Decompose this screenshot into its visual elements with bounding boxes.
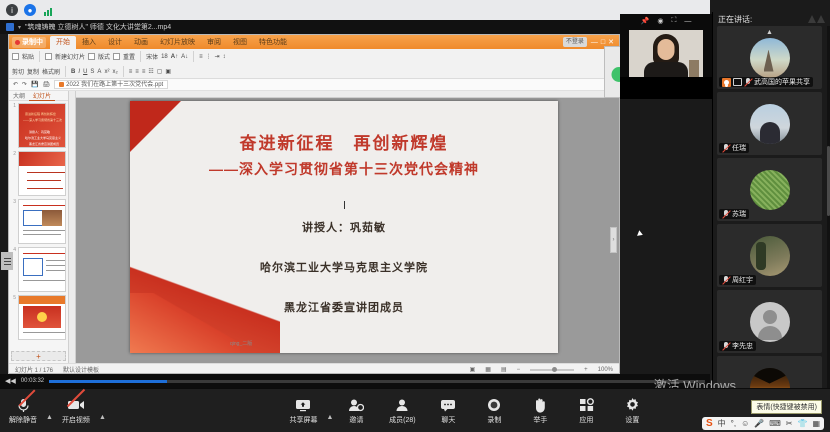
video-progress-fill — [49, 380, 167, 383]
maximize-button[interactable]: □ — [601, 39, 605, 46]
thumbnail-item[interactable]: 4 — [11, 247, 66, 292]
ime-toolbar[interactable]: S 中 °, ☺ 🎤 ⌨ ✂ 👕 ▦ — [702, 417, 824, 430]
vertical-ruler — [69, 91, 76, 363]
thumbnail-number: 1 — [11, 103, 16, 148]
tab-insert[interactable]: 插入 — [76, 36, 102, 49]
ribbon-copy-label[interactable]: 复制 — [27, 67, 39, 76]
numbering-icon[interactable]: ⋮ — [206, 53, 212, 60]
emoji-tooltip: 表情(快捷键被禁用) — [751, 400, 822, 414]
window-controls: — □ ✕ — [591, 38, 616, 46]
participant-label: 周红宇 — [719, 275, 756, 285]
video-current-time: 00:03:32 — [21, 378, 44, 384]
collapse-pane-button[interactable]: › — [610, 227, 617, 253]
align-left-icon[interactable]: ≡ — [129, 69, 133, 75]
thumbnail-item[interactable]: 2 — [11, 151, 66, 196]
paste-icon[interactable] — [12, 53, 19, 60]
thumbnail-item[interactable]: 3 — [11, 199, 66, 244]
meeting-screen-share-window: i ● ▾ "筑魂铸魄 立德树人" 师德 文化大讲堂第2...mp4 录制中 开… — [0, 0, 830, 432]
thumbnail-number: 2 — [11, 151, 16, 196]
shape-fill-icon[interactable]: ▢ — [157, 68, 163, 75]
font-name-box[interactable]: 宋体 — [146, 52, 158, 61]
participant-name: 任瑞 — [732, 143, 746, 153]
minimize-button[interactable]: — — [591, 39, 598, 46]
share-options-chevron-icon[interactable]: ▲ — [326, 414, 333, 421]
meeting-toolbar: 解除静音 ▲ 开启视频 ▲ 共享屏幕 ▲ — [0, 388, 830, 432]
mic-muted-icon — [722, 276, 730, 285]
participant-name: 李先忠 — [732, 341, 753, 351]
slide-title: 奋进新征程 再创新辉煌 — [130, 129, 558, 154]
participant-label: 武高国的苹果共享 — [719, 77, 813, 87]
slide-subtitle: ——深入学习贯彻省第十三次党代会精神 — [130, 159, 558, 179]
underline-icon[interactable]: U — [83, 69, 87, 75]
shield-icon[interactable]: ● — [24, 4, 36, 16]
speaker-face — [658, 39, 675, 60]
columns-icon[interactable]: ☷ — [148, 68, 153, 75]
slide-thumbnail-pane: 大纲 幻灯片 1 奋进新征程 再创新辉煌 ——深入学习贯彻省第十三次 讲授人：巩… — [9, 91, 69, 363]
thumbnail-list[interactable]: 1 奋进新征程 再创新辉煌 ——深入学习贯彻省第十三次 讲授人：巩茹敏 哈尔滨工… — [9, 101, 68, 349]
chrome-right-dark-corner — [710, 0, 830, 12]
section-icon[interactable] — [113, 53, 120, 60]
tab-design[interactable]: 设计 — [102, 36, 128, 49]
participant-tile[interactable]: 苏瑞 — [717, 158, 822, 221]
participant-label: 李先忠 — [719, 341, 756, 351]
toolbar-share-screen-button[interactable]: 共享屏幕 — [280, 397, 326, 425]
browser-chrome-bar: i ● — [0, 0, 710, 20]
ribbon-row-top: 粘贴 新建幻灯片 版式 重置 宋体 18 A↑ A↓ ≡ ⋮ ⇥ ↕ — [9, 49, 619, 64]
media-file-icon — [6, 23, 14, 31]
raise-hand-icon — [533, 397, 547, 413]
text-cursor — [344, 201, 345, 209]
participant-list[interactable]: ▲ 武高国的苹果共享 任瑞 — [713, 26, 826, 408]
fullscreen-icon[interactable]: ⛶ — [671, 17, 676, 25]
ribbon-divider-2 — [140, 51, 141, 62]
toolbar-unmute-button[interactable]: 解除静音 — [0, 397, 46, 425]
ime-keyboard-icon[interactable]: ⌨ — [769, 419, 781, 428]
thumbnail-tabs: 大纲 幻灯片 — [9, 91, 68, 101]
avatar — [750, 38, 790, 78]
participants-icon — [394, 397, 410, 413]
participant-tile[interactable]: 李先忠 — [717, 290, 822, 353]
pin-icon[interactable]: 📌 — [641, 17, 650, 25]
avatar — [750, 104, 790, 144]
invite-label: 邀请 — [349, 415, 363, 425]
indent-icon[interactable]: ⇥ — [215, 53, 220, 60]
ribbon-divider-5 — [123, 66, 124, 77]
quick-save-icon[interactable]: 💾 — [31, 81, 38, 88]
thumbnail-item[interactable]: 5 — [11, 295, 66, 340]
thumbnail-preview[interactable]: 奋进新征程 再创新辉煌 ——深入学习贯彻省第十三次 讲授人：巩茹敏 哈尔滨工业大… — [18, 103, 66, 148]
ribbon-divider-4 — [65, 66, 66, 77]
screen-share-icon — [733, 78, 742, 86]
tab-slideshow[interactable]: 幻灯片放映 — [154, 36, 201, 49]
apps-icon — [579, 397, 594, 413]
sidebar-header: 正在讲话: — [713, 12, 830, 26]
avatar — [750, 302, 790, 342]
settings-label: 设置 — [625, 415, 639, 425]
cloud-login-button[interactable]: 不登录 — [563, 37, 587, 47]
thumb-bg — [19, 104, 65, 147]
ribbon-formatpainter-label[interactable]: 格式刷 — [42, 67, 60, 76]
thumb-text-5: 黑龙江省委宣讲团成员 — [29, 142, 59, 146]
ribbon-cut-label[interactable]: 剪切 — [12, 67, 24, 76]
ime-mode-chinese[interactable]: 中 — [718, 418, 726, 429]
close-button[interactable]: ✕ — [608, 38, 614, 46]
current-slide[interactable]: 奋进新征程 再创新辉煌 ——深入学习贯彻省第十三次党代会精神 讲授人：巩茹敏 哈… — [130, 101, 558, 353]
tab-slides[interactable]: 幻灯片 — [29, 91, 55, 101]
status-slide-index: 幻灯片 1 / 176 — [15, 365, 53, 374]
thumb-text-3: 讲授人：巩茹敏 — [29, 130, 50, 134]
slide-editing-area[interactable]: 奋进新征程 再创新辉煌 ——深入学习贯彻省第十三次党代会精神 讲授人：巩茹敏 哈… — [69, 91, 619, 363]
recording-label: 录制中 — [22, 37, 43, 47]
tab-start[interactable]: 开始 — [50, 36, 76, 49]
font-size-box[interactable]: 18 — [161, 54, 168, 60]
superscript-icon[interactable]: x² — [104, 69, 109, 75]
view-normal-icon[interactable]: ▣ — [470, 366, 476, 373]
avatar — [750, 236, 790, 276]
thumb-text-2: ——深入学习贯彻省第十三次 — [23, 118, 62, 122]
grow-font-icon[interactable]: A↑ — [171, 54, 178, 60]
thumbnail-number: 3 — [11, 199, 16, 244]
ribbon-tabs: 开始 插入 设计 动画 幻灯片放映 审阅 视图 特色功能 — [50, 35, 559, 49]
share-screen-icon — [295, 397, 311, 413]
zoom-slider[interactable] — [530, 369, 574, 371]
align-center-icon[interactable]: ≡ — [135, 69, 139, 75]
apps-label: 应用 — [579, 415, 593, 425]
add-slide-button[interactable]: + — [11, 351, 66, 361]
recording-badge: 录制中 — [12, 37, 46, 48]
thumb-text-4: 哈尔滨工业大学马克思主义 — [25, 136, 61, 140]
minimize-icon[interactable]: — — [684, 18, 691, 25]
ribbon-layout-label[interactable]: 版式 — [98, 52, 110, 61]
zoom-level-label: 100% — [598, 367, 613, 373]
toolbar-participants-button[interactable]: 成员(28) — [379, 397, 425, 425]
ribbon-row-bottom: 剪切 复制 格式刷 B I U S A x² x₂ ≡ ≡ ≡ ☷ ▢ ▣ — [9, 64, 619, 79]
subscript-icon[interactable]: x₂ — [112, 69, 117, 75]
ppt-workspace: 大纲 幻灯片 1 奋进新征程 再创新辉煌 ——深入学习贯彻省第十三次 讲授人：巩… — [9, 91, 619, 363]
tab-outline[interactable]: 大纲 — [9, 91, 29, 100]
toolbar-chat-button[interactable]: 聊天 — [425, 397, 471, 425]
media-file-title: "筑魂铸魄 立德树人" 师德 文化大讲堂第2...mp4 — [25, 22, 171, 32]
slide-line-presenter: 讲授人：巩茹敏 — [130, 219, 558, 235]
mic-muted-icon — [722, 210, 730, 219]
toolbar-apps-button[interactable]: 应用 — [563, 397, 609, 425]
ppt-titlebar: 录制中 开始 插入 设计 动画 幻灯片放映 审阅 视图 特色功能 不登录 — □… — [9, 35, 619, 49]
participant-name: 苏瑞 — [732, 209, 746, 219]
record-icon — [487, 397, 501, 413]
text-color-icon[interactable]: A — [97, 69, 101, 75]
toolbar-invite-button[interactable]: 邀请 — [333, 397, 379, 425]
thumb-text: 奋进新征程 再创新辉煌 — [25, 112, 56, 116]
mic-off-icon — [17, 397, 30, 413]
participant-tile[interactable]: 任瑞 — [717, 92, 822, 155]
slide-line-group: 黑龙江省委宣讲团成员 — [130, 299, 558, 315]
video-options-chevron-icon[interactable]: ▲ — [99, 414, 106, 421]
chat-label: 聊天 — [441, 415, 455, 425]
ribbon-reset-label[interactable]: 重置 — [123, 52, 135, 61]
app-logo-icon — [808, 15, 825, 23]
slide-footer-note: qing_二版 — [230, 340, 252, 347]
status-template-name: 默认设计模板 — [63, 365, 99, 374]
thumbnail-item[interactable]: 1 奋进新征程 再创新辉煌 ——深入学习贯彻省第十三次 讲授人：巩茹敏 哈尔滨工… — [11, 103, 66, 148]
arrange-icon[interactable]: ▣ — [165, 68, 171, 75]
shrink-font-icon[interactable]: A↓ — [181, 54, 188, 60]
participant-name: 武高国的苹果共享 — [754, 77, 810, 87]
thumbnail-preview[interactable] — [18, 295, 66, 340]
tab-view[interactable]: 视图 — [227, 36, 253, 49]
thumbnail-preview[interactable] — [18, 199, 66, 244]
record-dot-icon — [15, 40, 20, 45]
rewind-icon[interactable]: ◀◀ — [5, 377, 16, 385]
zoom-slider-knob[interactable] — [552, 367, 557, 372]
mic-muted-icon — [722, 342, 730, 351]
thumbnail-preview[interactable] — [18, 247, 66, 292]
ribbon-toolbar: 粘贴 新建幻灯片 版式 重置 宋体 18 A↑ A↓ ≡ ⋮ ⇥ ↕ 剪 — [9, 49, 619, 79]
view-sorter-icon[interactable]: ▦ — [485, 366, 491, 373]
tab-animation[interactable]: 动画 — [128, 36, 154, 49]
info-icon[interactable]: i — [6, 4, 18, 16]
record-label: 录制 — [487, 415, 501, 425]
participant-name: 周红宇 — [732, 275, 753, 285]
new-slide-icon[interactable] — [45, 53, 52, 60]
toolbar-record-button[interactable]: 录制 — [471, 397, 517, 425]
chat-icon — [440, 397, 456, 413]
quick-redo-icon[interactable]: ↷ — [22, 81, 27, 88]
chevron-down-icon[interactable]: ▾ — [18, 24, 21, 31]
ime-toolbox-icon[interactable]: ▦ — [812, 419, 820, 428]
mic-muted-icon — [744, 78, 752, 87]
strikethrough-icon[interactable]: S — [90, 69, 94, 75]
tab-review[interactable]: 审阅 — [201, 36, 227, 49]
participant-tile[interactable]: 周红宇 — [717, 224, 822, 287]
signal-bars-icon[interactable] — [42, 4, 54, 16]
participant-sidebar: 正在讲话: ▲ 武高国的苹果共享 任瑞 — [712, 12, 830, 408]
quick-print-icon[interactable]: 🖨 — [43, 81, 51, 88]
zoom-in-button[interactable]: + — [584, 367, 588, 373]
host-badge-icon — [722, 78, 731, 87]
bold-icon[interactable]: B — [71, 69, 75, 75]
ppt-status-bar: 幻灯片 1 / 176 默认设计模板 ▣ ▦ ▤ − + 100% — [9, 363, 619, 374]
participant-tile[interactable]: ▲ 武高国的苹果共享 — [717, 26, 822, 89]
tab-features[interactable]: 特色功能 — [253, 36, 293, 49]
thumbnail-number: 5 — [11, 295, 16, 340]
raise-hand-label: 举手 — [533, 415, 547, 425]
participants-label: 成员(28) — [389, 415, 415, 425]
video-tile-footer — [620, 77, 712, 99]
hidden-toolbar-handle[interactable] — [1, 252, 13, 270]
quick-undo-icon[interactable]: ↶ — [13, 81, 18, 88]
thumbnail-preview[interactable] — [18, 151, 66, 196]
video-progress-track[interactable] — [49, 380, 705, 383]
layout-icon[interactable] — [88, 53, 95, 60]
ime-punctuation-icon[interactable]: °, — [731, 419, 736, 428]
share-screen-label: 共享屏幕 — [289, 415, 317, 425]
video-off-icon — [67, 397, 85, 413]
ime-emoji-icon[interactable]: ☺ — [741, 419, 749, 428]
participant-label: 苏瑞 — [719, 209, 749, 219]
chevron-up-icon[interactable]: ▲ — [766, 29, 773, 36]
mic-muted-icon — [722, 144, 730, 153]
wps-presentation-window: 录制中 开始 插入 设计 动画 幻灯片放映 审阅 视图 特色功能 不登录 — □… — [8, 34, 620, 374]
open-file-name: 2022 我们在路上第十三次党代会.ppt — [66, 81, 163, 89]
toolbar-raise-hand-button[interactable]: 举手 — [517, 397, 563, 425]
start-video-label: 开启视频 — [62, 415, 90, 425]
line-spacing-icon[interactable]: ↕ — [223, 54, 226, 60]
participant-label: 任瑞 — [719, 143, 749, 153]
speaker-video-tile[interactable]: 📌 ◉ ⛶ — — [620, 14, 712, 99]
zoom-out-button[interactable]: − — [517, 367, 521, 373]
ppt-file-icon — [59, 82, 64, 87]
thumb-banner — [19, 152, 65, 166]
ribbon-new-slide-label[interactable]: 新建幻灯片 — [55, 52, 85, 61]
ribbon-divider — [39, 51, 40, 62]
avatar — [750, 170, 790, 210]
file-tab-bar: ↶ ↷ 💾 🖨 2022 我们在路上第十三次党代会.ppt — [9, 79, 619, 91]
video-tile-controls: 📌 ◉ ⛶ — — [620, 16, 712, 26]
slide-line-institution: 哈尔滨工业大学马克思主义学院 — [130, 259, 558, 275]
align-right-icon[interactable]: ≡ — [142, 69, 146, 75]
view-reading-icon[interactable]: ▤ — [501, 366, 507, 373]
mouse-cursor — [637, 230, 644, 237]
horizontal-ruler — [69, 91, 619, 98]
bullets-icon[interactable]: ≡ — [199, 54, 203, 60]
settings-gear-icon — [625, 397, 640, 413]
ime-clipboard-icon[interactable]: ✂ — [786, 419, 793, 428]
toolbar-settings-button[interactable]: 设置 — [609, 397, 655, 425]
speaking-label: 正在讲话: — [718, 14, 752, 25]
italic-icon[interactable]: I — [78, 69, 80, 75]
sogou-logo-icon[interactable]: S — [706, 418, 713, 429]
audio-options-chevron-icon[interactable]: ▲ — [46, 414, 53, 421]
unmute-label: 解除静音 — [9, 415, 37, 425]
ribbon-paste-label[interactable]: 粘贴 — [22, 52, 34, 61]
spotlight-icon[interactable]: ◉ — [657, 17, 663, 25]
ime-skin-icon[interactable]: 👕 — [797, 419, 807, 428]
toolbar-start-video-button[interactable]: 开启视频 — [53, 397, 99, 425]
video-player-bar: ◀◀ 00:03:32 — [0, 374, 710, 388]
media-player-titlebar: ▾ "筑魂铸魄 立德树人" 师德 文化大讲堂第2...mp4 — [0, 20, 710, 34]
ribbon-divider-3 — [193, 51, 194, 62]
invite-icon — [348, 397, 364, 413]
open-file-tab[interactable]: 2022 我们在路上第十三次党代会.ppt — [54, 80, 168, 89]
ime-voice-icon[interactable]: 🎤 — [754, 419, 764, 428]
